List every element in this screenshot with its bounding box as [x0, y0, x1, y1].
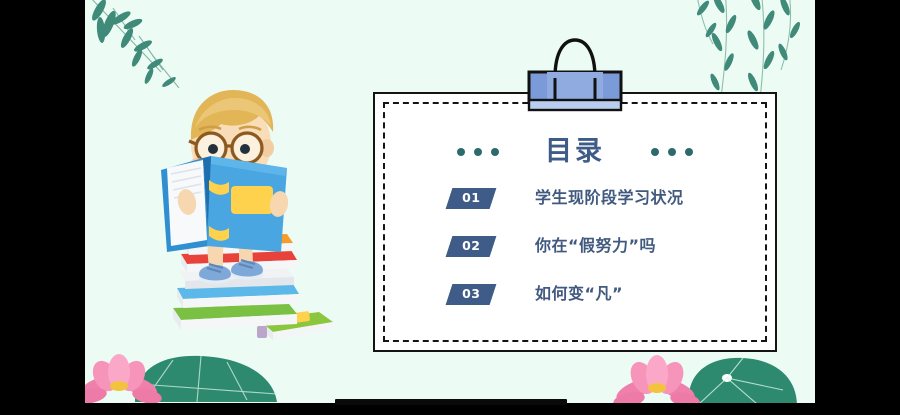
- toc-item-01[interactable]: 01 学生现阶段学习状况: [449, 186, 741, 210]
- toc-header: 目录: [375, 138, 775, 165]
- toc-item-03[interactable]: 03 如何变“凡”: [449, 282, 741, 306]
- toc-number: 02: [462, 240, 480, 253]
- letterbox-right: [815, 0, 900, 415]
- toc-number-badge: 01: [446, 188, 497, 209]
- dot-icon: [685, 148, 693, 156]
- letterbox-left: [0, 0, 85, 415]
- video-progress-bar[interactable]: [335, 399, 567, 405]
- toc-number-badge: 03: [446, 284, 497, 305]
- dots-left: [457, 148, 499, 156]
- toc-item-label: 如何变“凡”: [535, 286, 623, 302]
- boy-reading-illustration: [147, 82, 347, 354]
- toc-item-label: 学生现阶段学习状况: [535, 190, 684, 206]
- toc-item-02[interactable]: 02 你在“假努力”吗: [449, 234, 741, 258]
- lotus-flower-icon: [607, 346, 797, 403]
- dot-icon: [474, 148, 482, 156]
- page-title: 目录: [545, 138, 605, 165]
- toc-number-badge: 02: [446, 236, 497, 257]
- dots-right: [651, 148, 693, 156]
- dot-icon: [651, 148, 659, 156]
- toc-number: 03: [462, 288, 480, 301]
- dot-icon: [457, 148, 465, 156]
- dot-icon: [668, 148, 676, 156]
- dot-icon: [491, 148, 499, 156]
- slide-canvas: 目录 01 学生现阶段学习状况 02: [85, 0, 815, 403]
- toc-list: 01 学生现阶段学习状况 02 你在“假努力”吗 03 如何变“凡”: [449, 186, 741, 306]
- toc-number: 01: [462, 192, 480, 205]
- handbag-icon: [521, 34, 629, 112]
- slide-root: 目录 01 学生现阶段学习状况 02: [0, 0, 900, 415]
- toc-item-label: 你在“假努力”吗: [535, 238, 656, 254]
- toc-panel: 目录 01 学生现阶段学习状况 02: [373, 92, 777, 352]
